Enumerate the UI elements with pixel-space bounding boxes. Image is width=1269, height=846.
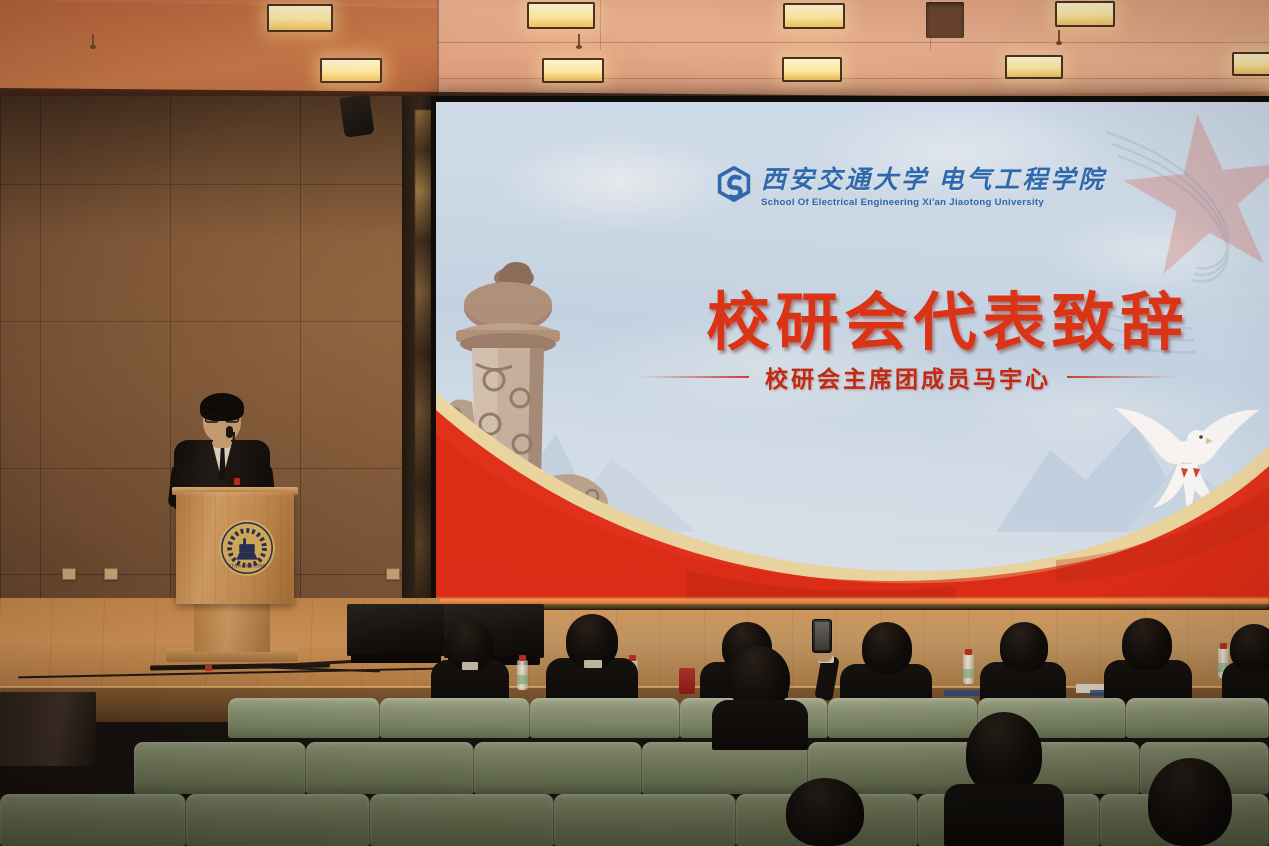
smartphone-icon[interactable]	[812, 619, 832, 653]
subtitle-rule-right	[1067, 376, 1177, 378]
ceiling-light	[782, 57, 842, 82]
seat[interactable]	[186, 794, 370, 846]
cable-tag	[205, 665, 212, 671]
auditorium-photo: 西安交通大学 电气工程学院 School Of Electrical Engin…	[0, 0, 1269, 846]
seat[interactable]	[828, 698, 978, 738]
wall-outlet	[62, 568, 76, 580]
slide-subtitle: 校研会主席团成员马宇心	[765, 360, 1051, 394]
red-cup	[679, 668, 695, 694]
subtitle-rule-left	[639, 376, 749, 378]
audience-head	[1230, 624, 1269, 672]
bottle-label	[963, 669, 974, 678]
slide-title: 校研会代表致辞	[688, 272, 1208, 363]
audience-torso	[944, 784, 1064, 846]
ceiling-seam	[437, 0, 439, 96]
seat[interactable]	[306, 742, 474, 794]
logo-english-name: School Of Electrical Engineering Xi'an J…	[761, 197, 1106, 208]
sprinkler-head-icon	[578, 34, 580, 47]
eyeglasses-icon	[205, 414, 239, 423]
ceiling-light	[1055, 1, 1115, 27]
wall-speaker-icon	[339, 94, 374, 138]
svg-text:XI'AN JIAOTONG: XI'AN JIAOTONG	[228, 564, 266, 569]
seat[interactable]	[228, 698, 380, 738]
seat[interactable]	[380, 698, 530, 738]
ceiling-seam	[600, 0, 601, 50]
seat[interactable]	[370, 794, 554, 846]
slide-subtitle-row: 校研会主席团成员马宇心	[608, 360, 1208, 394]
ceiling-light	[527, 2, 595, 29]
speaker-lapel-pin	[234, 478, 240, 485]
audience-head	[1148, 758, 1232, 846]
ceiling-light	[1232, 52, 1269, 76]
audience-head-filming	[862, 622, 912, 674]
audience-torso	[712, 700, 808, 750]
shirt-collar	[584, 660, 602, 668]
xjtu-university-seal-icon: XI'AN JIAOTONG	[218, 519, 276, 577]
audience-head	[1122, 618, 1172, 670]
presentation-screen[interactable]: 西安交通大学 电气工程学院 School Of Electrical Engin…	[436, 102, 1269, 604]
ceiling-light	[320, 58, 382, 83]
ceiling-light	[542, 58, 604, 83]
sprinkler-head-icon	[1058, 30, 1060, 43]
screen-bottom-glow	[436, 598, 1269, 610]
seat[interactable]	[530, 698, 680, 738]
school-logo-lockup: 西安交通大学 电气工程学院 School Of Electrical Engin…	[716, 160, 1106, 208]
water-bottle	[963, 654, 974, 684]
microphone-icon	[226, 426, 233, 438]
hexagon-logo-icon	[716, 166, 752, 202]
seat-row[interactable]	[134, 742, 1269, 794]
phone-screen	[815, 622, 829, 650]
audience-head	[966, 712, 1042, 794]
audience-head	[1000, 622, 1048, 672]
sprinkler-head-icon	[92, 34, 94, 47]
seat-row[interactable]	[0, 794, 1269, 846]
podium-column	[194, 600, 270, 652]
ceiling-vent	[926, 2, 964, 38]
water-bottle	[517, 660, 528, 690]
seat[interactable]	[1126, 698, 1269, 738]
stage-monitor-speaker	[347, 604, 445, 656]
red-ribbon-banner	[436, 374, 1269, 604]
side-cabinet	[0, 692, 96, 766]
seat[interactable]	[0, 794, 186, 846]
ceiling-light	[1005, 55, 1063, 79]
wall-outlet	[104, 568, 118, 580]
wall-outlet	[386, 568, 400, 580]
shirt-collar	[462, 662, 478, 670]
seat[interactable]	[554, 794, 736, 846]
ceiling-light	[267, 4, 333, 32]
logo-chinese-name: 西安交通大学 电气工程学院	[761, 160, 1106, 196]
audience-head	[786, 778, 864, 846]
bottle-label	[517, 675, 528, 684]
ceiling	[0, 0, 1269, 96]
ceiling-light	[783, 3, 845, 29]
ceiling-seam	[437, 42, 1269, 43]
decorative-metal-strip	[415, 110, 431, 615]
seat[interactable]	[134, 742, 306, 794]
seat[interactable]	[474, 742, 642, 794]
